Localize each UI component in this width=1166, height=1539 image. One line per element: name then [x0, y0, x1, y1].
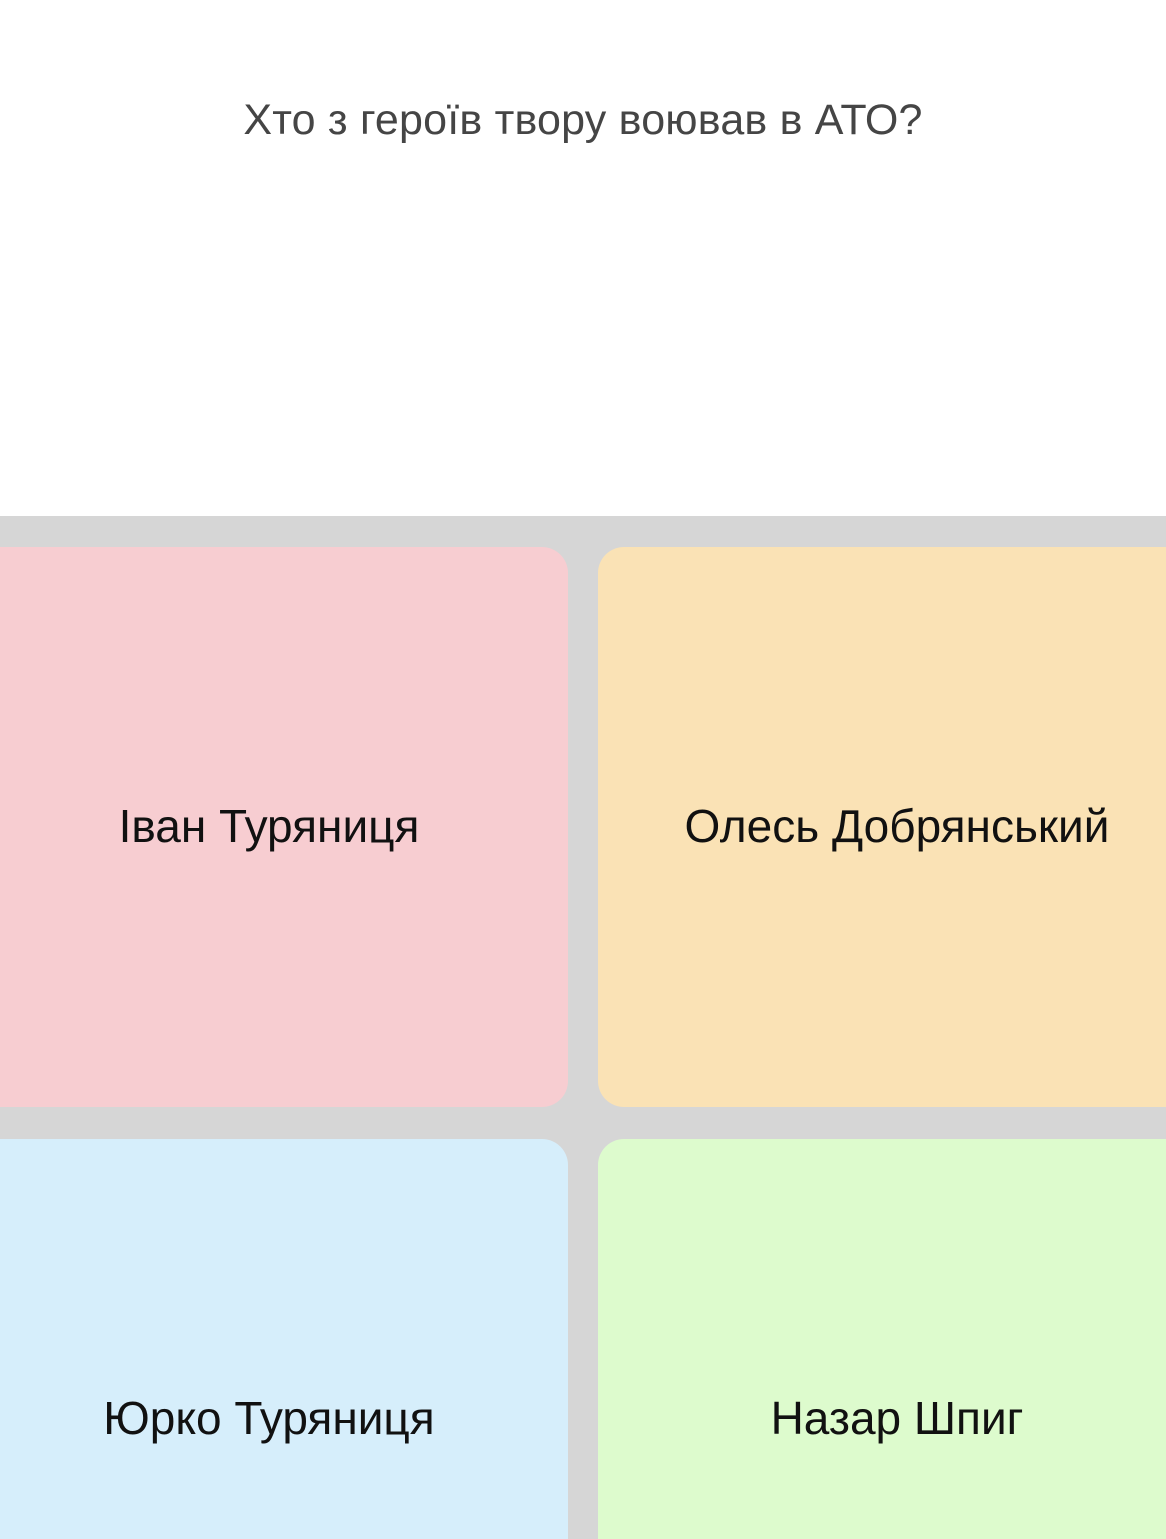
answers-region: Іван Туряниця Олесь Добрянський Юрко Тур…: [0, 516, 1166, 1539]
answer-option-b-label: Олесь Добрянський: [632, 795, 1162, 858]
quiz-screen: Хто з героїв твору воював в АТО? Іван Ту…: [0, 0, 1166, 1539]
answer-option-c[interactable]: Юрко Туряниця: [0, 1139, 568, 1539]
question-area: Хто з героїв твору воював в АТО?: [0, 0, 1166, 516]
answer-option-d-label: Назар Шпиг: [632, 1387, 1162, 1450]
answer-option-a[interactable]: Іван Туряниця: [0, 547, 568, 1107]
answer-option-d[interactable]: Назар Шпиг: [598, 1139, 1166, 1539]
answer-grid: Іван Туряниця Олесь Добрянський Юрко Тур…: [0, 547, 1166, 1539]
answer-option-c-label: Юрко Туряниця: [4, 1387, 534, 1450]
question-text: Хто з героїв твору воював в АТО?: [0, 92, 1166, 148]
answer-option-b[interactable]: Олесь Добрянський: [598, 547, 1166, 1107]
answer-option-a-label: Іван Туряниця: [4, 795, 534, 858]
